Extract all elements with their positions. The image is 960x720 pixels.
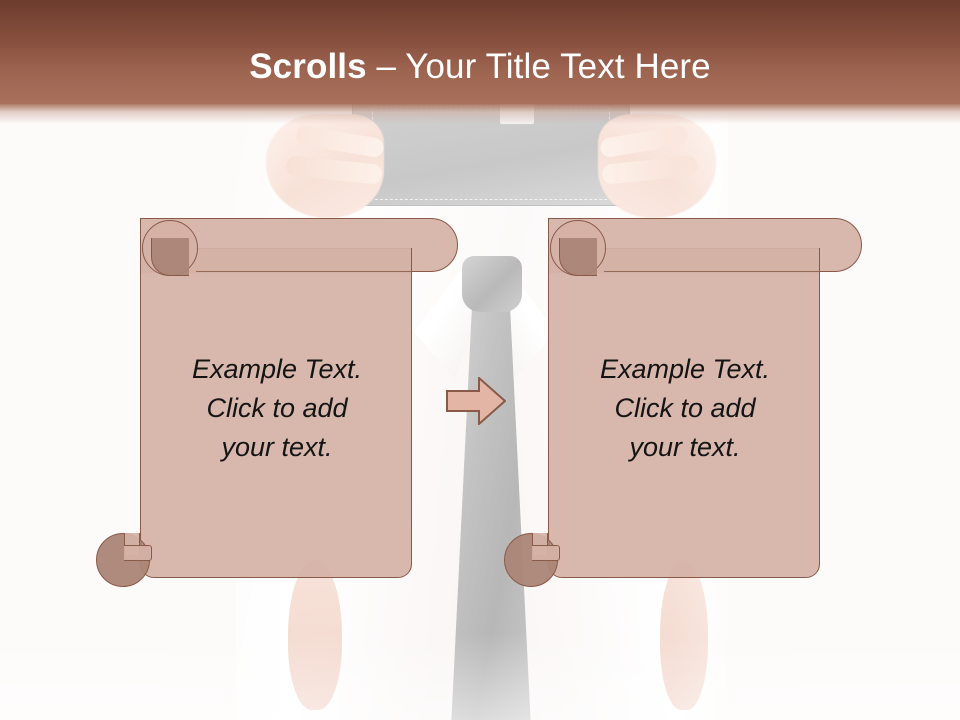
- left-scroll-seam-line: [196, 271, 411, 272]
- page-title-rest: – Your Title Text Here: [367, 47, 711, 86]
- right-arrow-icon: [446, 377, 506, 425]
- left-scroll-text[interactable]: Example Text. Click to add your text.: [152, 350, 402, 467]
- page-title-strong: Scrolls: [249, 47, 366, 86]
- right-scroll-seam-line: [604, 271, 819, 272]
- left-scroll-bottom-curl-notch: [124, 545, 152, 561]
- title-banner-fade: [0, 104, 960, 124]
- page-title: Scrolls – Your Title Text Here: [0, 46, 960, 88]
- right-scroll-top-curl-core: [559, 238, 597, 276]
- left-scroll-top-curl-core: [151, 238, 189, 276]
- right-scroll-bottom-curl-notch: [532, 545, 560, 561]
- right-scroll-text[interactable]: Example Text. Click to add your text.: [560, 350, 810, 467]
- slide-canvas: Scrolls – Your Title Text Here Example T…: [0, 0, 960, 720]
